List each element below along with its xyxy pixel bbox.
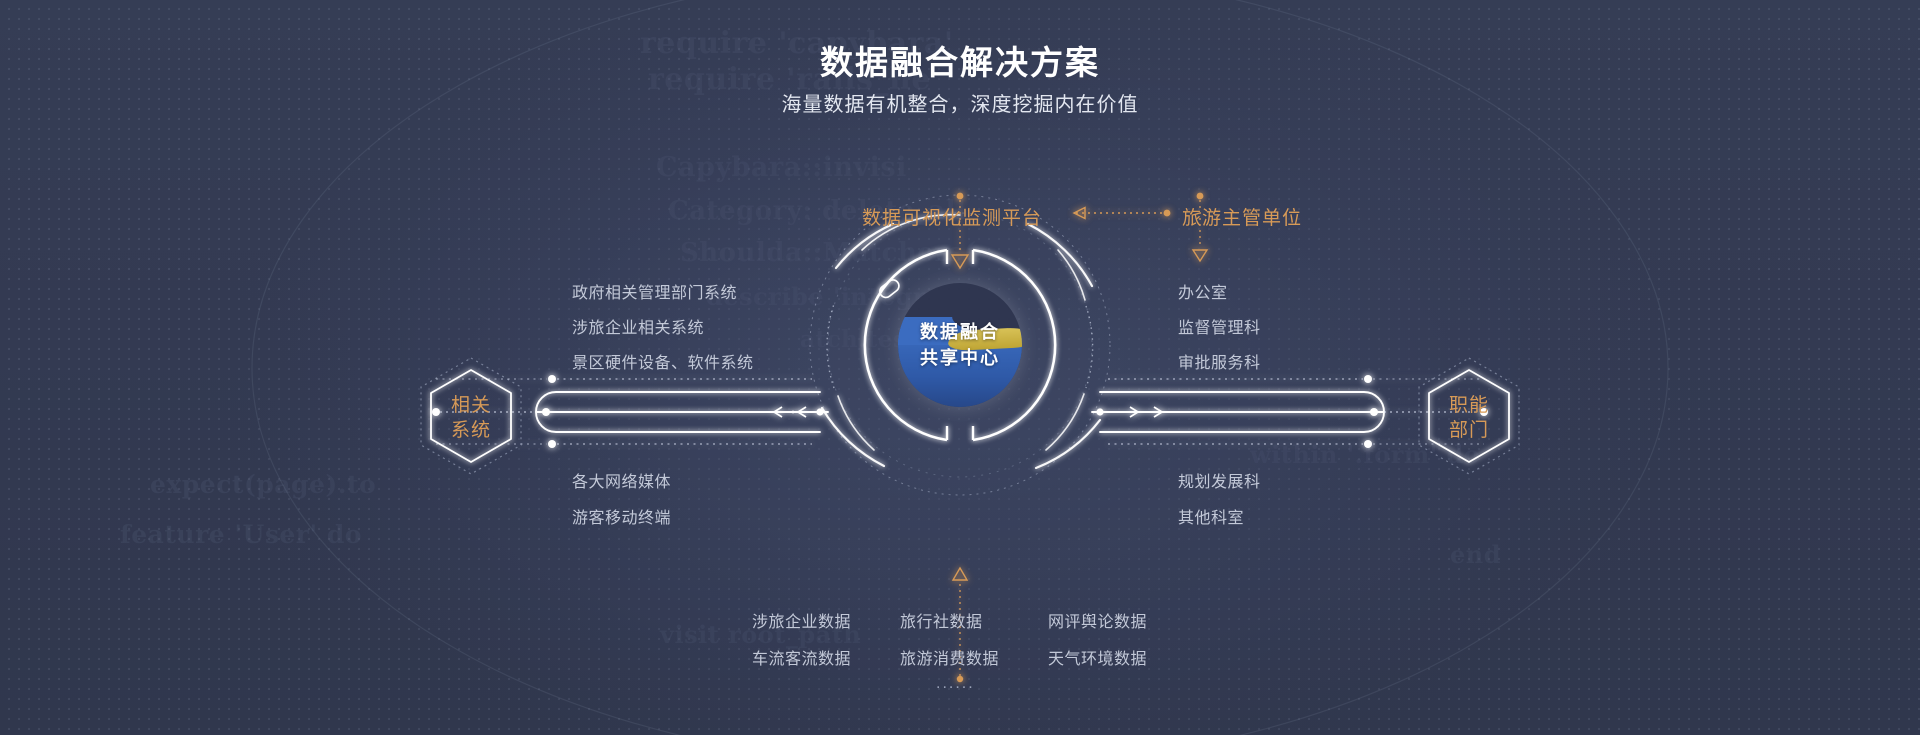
hex-left-label: 相关 系统	[426, 393, 516, 443]
core-label: 数据融合 共享中心	[898, 283, 1022, 407]
bottom-ellipsis: ......	[936, 675, 975, 693]
right-dept-item-4: 规划发展科	[1178, 468, 1261, 492]
core-label-line2: 共享中心	[920, 345, 1000, 371]
left-source-item-3: 景区硬件设备、软件系统	[572, 349, 754, 373]
left-flow-arrows	[774, 407, 806, 417]
background-code-line: Shoulda::Matchers(	[680, 238, 977, 268]
page-title: 数据融合解决方案	[0, 36, 1920, 84]
hex-right-line1: 职能	[1424, 393, 1514, 418]
bottom-data-item-6: 天气环境数据	[1048, 645, 1147, 669]
infographic-canvas: require 'capybara' require 'rails_he Cap…	[0, 0, 1920, 735]
right-dept-item-3: 审批服务科	[1178, 349, 1261, 373]
bottom-data-item-5: 旅游消费数据	[900, 645, 999, 669]
background-code-line: feature 'User' do	[120, 520, 362, 549]
right-flow-arrows	[1130, 407, 1162, 417]
left-source-item-2: 涉旅企业相关系统	[572, 314, 704, 338]
background-code-line: end	[1450, 540, 1501, 569]
core-label-line1: 数据融合	[920, 319, 1000, 345]
right-dept-item-1: 办公室	[1178, 279, 1228, 303]
left-bracket-connector	[536, 392, 828, 432]
background-code-line: within '.form' do	[1250, 440, 1480, 469]
bottom-data-item-1: 涉旅企业数据	[752, 608, 851, 632]
bottom-data-item-3: 网评舆论数据	[1048, 608, 1147, 632]
top-connector	[1074, 208, 1170, 219]
hex-right-line2: 部门	[1424, 418, 1514, 443]
hex-left-line2: 系统	[426, 418, 516, 443]
page-subtitle: 海量数据有机整合，深度挖掘内在价值	[0, 88, 1920, 117]
node-data-visualization-platform[interactable]: 数据可视化监测平台	[862, 203, 1042, 230]
bottom-data-item-2: 旅行社数据	[900, 608, 983, 632]
left-source-item-4: 各大网络媒体	[572, 468, 671, 492]
left-source-item-1: 政府相关管理部门系统	[572, 279, 737, 303]
left-source-item-5: 游客移动终端	[572, 504, 671, 528]
left-bracket-endpoint	[816, 408, 823, 415]
hex-right-label: 职能 部门	[1424, 393, 1514, 443]
right-upper-rail	[1108, 375, 1484, 383]
hex-left-line1: 相关	[426, 393, 516, 418]
right-dept-item-5: 其他科室	[1178, 504, 1244, 528]
background-code-line: expect(page).to	[150, 470, 376, 499]
node-tourism-authority[interactable]: 旅游主管单位	[1182, 203, 1302, 230]
right-bracket-endpoint	[1096, 408, 1103, 415]
background-code-line: Capybara::invisi	[656, 152, 907, 183]
right-bracket-connector	[1092, 392, 1384, 432]
left-upper-rail	[436, 375, 812, 383]
bottom-data-item-4: 车流客流数据	[752, 645, 851, 669]
right-dept-item-2: 监督管理科	[1178, 314, 1261, 338]
